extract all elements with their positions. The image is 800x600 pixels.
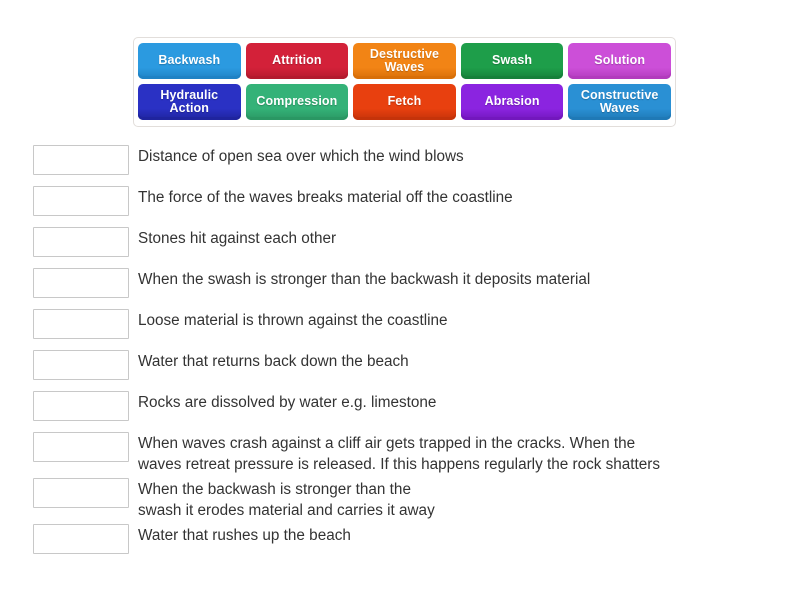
answer-tile-backwash[interactable]: Backwash (138, 43, 241, 79)
answer-tile-label: Destructive Waves (356, 48, 453, 75)
answer-drop-zone[interactable] (33, 478, 129, 508)
question-row: Rocks are dissolved by water e.g. limest… (33, 391, 778, 421)
matching-activity-page: BackwashAttritionDestructive WavesSwashS… (0, 0, 800, 600)
answer-drop-zone[interactable] (33, 268, 129, 298)
question-text: Water that rushes up the beach (138, 524, 351, 546)
question-row: When the backwash is stronger than the s… (33, 478, 778, 521)
answer-tile-label: Compression (249, 95, 346, 109)
answer-tile-abrasion[interactable]: Abrasion (461, 84, 564, 120)
answer-drop-zone[interactable] (33, 350, 129, 380)
answer-tile-label: Hydraulic Action (141, 89, 238, 116)
question-row: Loose material is thrown against the coa… (33, 309, 778, 339)
tile-row-1: BackwashAttritionDestructive WavesSwashS… (138, 43, 671, 79)
tile-row-2: Hydraulic ActionCompressionFetchAbrasion… (138, 84, 671, 120)
question-list: Distance of open sea over which the wind… (33, 145, 778, 565)
question-row: The force of the waves breaks material o… (33, 186, 778, 216)
question-text: When waves crash against a cliff air get… (138, 432, 660, 475)
answer-tile-label: Constructive Waves (571, 89, 668, 116)
answer-drop-zone[interactable] (33, 391, 129, 421)
question-text: Water that returns back down the beach (138, 350, 409, 372)
question-row: Stones hit against each other (33, 227, 778, 257)
question-row: Water that returns back down the beach (33, 350, 778, 380)
question-row: Water that rushes up the beach (33, 524, 778, 554)
question-text: Distance of open sea over which the wind… (138, 145, 464, 167)
answer-tile-label: Backwash (141, 54, 238, 68)
answer-drop-zone[interactable] (33, 524, 129, 554)
question-text: When the swash is stronger than the back… (138, 268, 590, 290)
answer-tile-solution[interactable]: Solution (568, 43, 671, 79)
question-row: When the swash is stronger than the back… (33, 268, 778, 298)
question-text: Stones hit against each other (138, 227, 336, 249)
answer-tile-label: Swash (464, 54, 561, 68)
question-text: Rocks are dissolved by water e.g. limest… (138, 391, 436, 413)
answer-drop-zone[interactable] (33, 227, 129, 257)
answer-tile-fetch[interactable]: Fetch (353, 84, 456, 120)
answer-tile-compression[interactable]: Compression (246, 84, 349, 120)
answer-tile-attrition[interactable]: Attrition (246, 43, 349, 79)
answer-tile-label: Abrasion (464, 95, 561, 109)
answer-drop-zone[interactable] (33, 432, 129, 462)
answer-drop-zone[interactable] (33, 186, 129, 216)
answer-drop-zone[interactable] (33, 309, 129, 339)
answer-tile-bank: BackwashAttritionDestructive WavesSwashS… (133, 37, 676, 127)
answer-tile-label: Solution (571, 54, 668, 68)
answer-tile-label: Fetch (356, 95, 453, 109)
question-row: Distance of open sea over which the wind… (33, 145, 778, 175)
answer-tile-label: Attrition (249, 54, 346, 68)
answer-drop-zone[interactable] (33, 145, 129, 175)
question-text: When the backwash is stronger than the s… (138, 478, 435, 521)
question-row: When waves crash against a cliff air get… (33, 432, 778, 475)
answer-tile-constructive-waves[interactable]: Constructive Waves (568, 84, 671, 120)
answer-tile-destructive-waves[interactable]: Destructive Waves (353, 43, 456, 79)
question-text: The force of the waves breaks material o… (138, 186, 513, 208)
answer-tile-swash[interactable]: Swash (461, 43, 564, 79)
answer-tile-hydraulic-action[interactable]: Hydraulic Action (138, 84, 241, 120)
question-text: Loose material is thrown against the coa… (138, 309, 448, 331)
